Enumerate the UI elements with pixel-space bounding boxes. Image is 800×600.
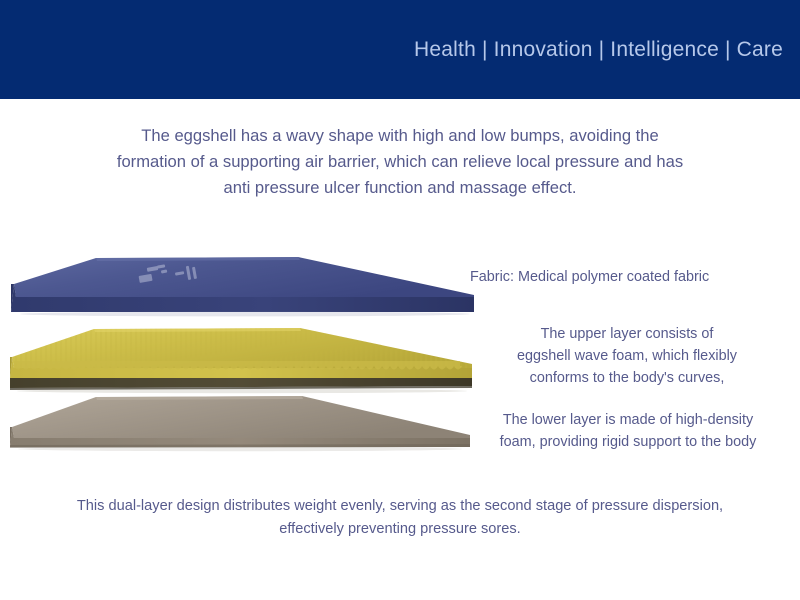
caption-line-1: This dual-layer design distributes weigh… — [0, 495, 800, 518]
annotation-upper-line-1: The upper layer consists of — [462, 323, 792, 345]
annotation-lower-line-2: foam, providing rigid support to the bod… — [462, 431, 794, 453]
annotation-fabric: Fabric: Medical polymer coated fabric — [470, 266, 790, 288]
bottom-caption: This dual-layer design distributes weigh… — [0, 495, 800, 541]
annotation-fabric-line-1: Fabric: Medical polymer coated fabric — [470, 266, 790, 288]
intro-line-2: formation of a supporting air barrier, w… — [0, 149, 800, 175]
intro-line-3: anti pressure ulcer function and massage… — [0, 175, 800, 201]
header-banner: Health | Innovation | Intelligence | Car… — [0, 0, 800, 99]
annotation-upper-line-2: eggshell wave foam, which flexibly — [462, 345, 792, 367]
high-density-foam-layer — [0, 387, 500, 477]
caption-line-2: effectively preventing pressure sores. — [0, 518, 800, 541]
intro-line-1: The eggshell has a wavy shape with high … — [0, 123, 800, 149]
high-density-foam-layer-image — [0, 387, 500, 477]
annotation-lower-layer: The lower layer is made of high-density … — [462, 409, 794, 453]
annotation-upper-layer: The upper layer consists of eggshell wav… — [462, 323, 792, 389]
annotation-upper-line-3: conforms to the body's curves, — [462, 367, 792, 389]
page-title: Health | Innovation | Intelligence | Car… — [414, 38, 800, 62]
annotation-lower-line-1: The lower layer is made of high-density — [462, 409, 794, 431]
intro-paragraph: The eggshell has a wavy shape with high … — [0, 123, 800, 201]
